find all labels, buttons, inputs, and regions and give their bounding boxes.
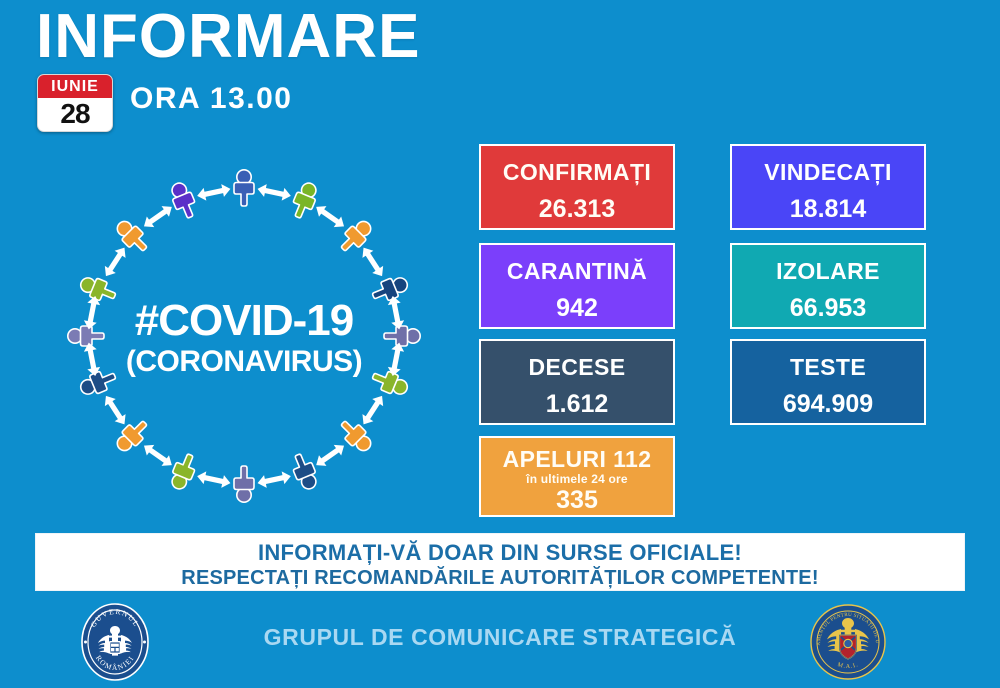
stat-card-confirmati[interactable]: CONFIRMAȚI 26.313	[479, 144, 675, 230]
stat-card-vindecati[interactable]: VINDECAȚI 18.814	[730, 144, 926, 230]
hour-label: ORA 13.00	[130, 82, 292, 116]
header: INFORMARE IUNIE 28 ORA 13.00	[0, 0, 1000, 140]
stat-label-izolare: IZOLARE	[732, 258, 924, 284]
person-ring	[68, 170, 420, 502]
stat-value-decese: 1.612	[481, 390, 673, 418]
stat-label-carantina: CARANTINĂ	[481, 258, 673, 284]
stat-value-confirmati: 26.313	[481, 195, 673, 223]
stat-value-vindecati: 18.814	[732, 195, 924, 223]
stat-card-decese[interactable]: DECESE 1.612	[479, 339, 675, 425]
stat-label-vindecati: VINDECAȚI	[732, 159, 924, 185]
covid-circle-svg	[34, 158, 454, 518]
calendar-icon: IUNIE 28	[37, 74, 113, 132]
stat-sublabel-apeluri: în ultimele 24 ore	[481, 472, 673, 486]
calendar-month-label: IUNIE	[38, 75, 112, 98]
stat-value-apeluri: 335	[481, 486, 673, 514]
stat-card-carantina[interactable]: CARANTINĂ 942	[479, 243, 675, 329]
advisory-line-1: INFORMAȚI-VĂ DOAR DIN SURSE OFICIALE!	[36, 540, 964, 566]
stat-value-izolare: 66.953	[732, 294, 924, 322]
stat-card-izolare[interactable]: IZOLARE 66.953	[730, 243, 926, 329]
advisory-banner: INFORMAȚI-VĂ DOAR DIN SURSE OFICIALE! RE…	[35, 533, 965, 591]
covid-circle-illustration: #COVID-19 (CORONAVIRUS)	[34, 158, 454, 518]
stat-label-teste: TESTE	[732, 354, 924, 380]
stat-card-apeluri[interactable]: APELURI 112 în ultimele 24 ore 335	[479, 436, 675, 517]
stat-value-teste: 694.909	[732, 390, 924, 418]
stat-label-decese: DECESE	[481, 354, 673, 380]
stat-card-teste[interactable]: TESTE 694.909	[730, 339, 926, 425]
footer: GUVERNUL ROMÂNIEI GRUPUL DE COMUNICARE S…	[0, 596, 1000, 688]
stat-label-confirmati: CONFIRMAȚI	[481, 159, 673, 185]
page-title: INFORMARE	[36, 2, 420, 72]
calendar-day-label: 28	[38, 98, 112, 131]
stat-value-carantina: 942	[481, 294, 673, 322]
stat-label-apeluri: APELURI 112	[481, 446, 673, 472]
advisory-line-2: RESPECTAȚI RECOMANDĂRILE AUTORITĂȚILOR C…	[36, 566, 964, 590]
dsu-mai-seal-icon: DEPARTAMENTUL PENTRU SITUAȚII DE URGENȚĂ…	[808, 602, 888, 682]
